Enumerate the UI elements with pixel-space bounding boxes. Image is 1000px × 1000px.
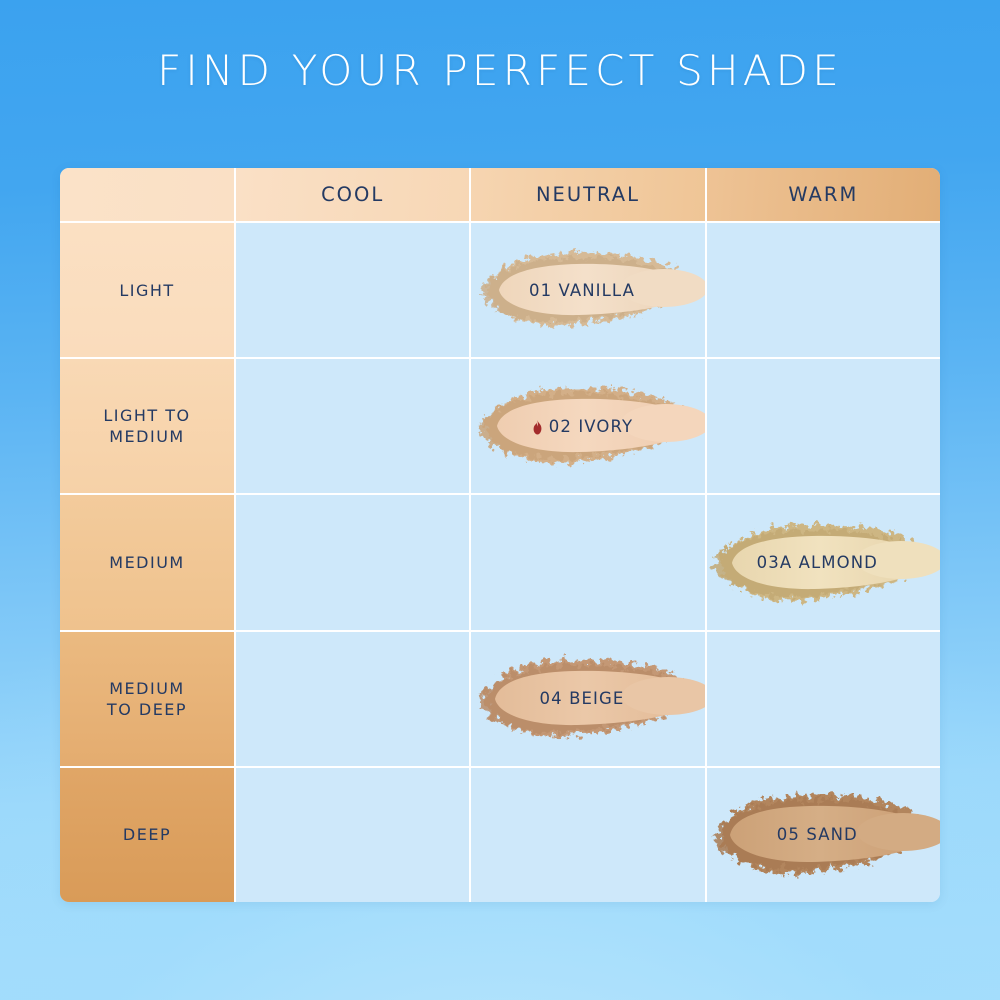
swatch-03a-almond[interactable]: 03A ALMOND <box>704 514 940 612</box>
swatch-label-05-sand: 05 SAND <box>777 825 858 844</box>
column-header-neutral: NEUTRAL <box>469 168 704 221</box>
row-header-light: LIGHT <box>60 223 234 357</box>
table-row: DEEP <box>60 766 940 902</box>
page-title: FIND YOUR PERFECT SHADE <box>0 46 1000 95</box>
row-header-deep: DEEP <box>60 768 234 902</box>
table-row: LIGHT <box>60 221 940 357</box>
table-header-row: COOL NEUTRAL WARM <box>60 168 940 221</box>
cell-light-warm[interactable] <box>705 223 940 357</box>
row-header-light-to-medium: LIGHT TO MEDIUM <box>60 359 234 493</box>
cell-light-to-medium-cool[interactable] <box>234 359 469 493</box>
cell-medium-to-deep-warm[interactable] <box>705 632 940 766</box>
cell-light-cool[interactable] <box>234 223 469 357</box>
swatch-01-vanilla[interactable]: 01 VANILLA <box>469 241 707 339</box>
column-header-cool: COOL <box>234 168 469 221</box>
shade-matrix-table: COOL NEUTRAL WARM LIGHT <box>60 168 940 902</box>
swatch-label-02-ivory: 02 IVORY <box>531 417 633 436</box>
swatch-label-04-beige: 04 BEIGE <box>540 689 625 708</box>
cell-light-neutral[interactable]: 01 VANILLA <box>469 223 704 357</box>
flame-icon <box>531 420 544 435</box>
row-header-light-label: LIGHT <box>119 280 174 301</box>
row-header-medium-to-deep: MEDIUM TO DEEP <box>60 632 234 766</box>
row-header-medium: MEDIUM <box>60 495 234 629</box>
row-header-light-to-medium-line1: LIGHT TO <box>103 406 190 425</box>
swatch-02-ivory[interactable]: 02 IVORY <box>469 377 707 475</box>
row-header-medium-to-deep-line1: MEDIUM <box>109 679 184 698</box>
column-header-neutral-label: NEUTRAL <box>536 183 640 206</box>
cell-medium-to-deep-cool[interactable] <box>234 632 469 766</box>
cell-medium-neutral[interactable] <box>469 495 704 629</box>
shade-finder-poster: FIND YOUR PERFECT SHADE COOL NEUTRAL WAR… <box>0 0 1000 1000</box>
swatch-label-01-vanilla: 01 VANILLA <box>529 281 635 300</box>
cell-deep-cool[interactable] <box>234 768 469 902</box>
table-row: MEDIUM TO DEEP <box>60 630 940 766</box>
column-header-warm-label: WARM <box>788 183 858 206</box>
row-header-deep-label: DEEP <box>123 824 171 845</box>
cell-light-to-medium-warm[interactable] <box>705 359 940 493</box>
cell-deep-neutral[interactable] <box>469 768 704 902</box>
swatch-label-02-ivory-text: 02 IVORY <box>549 417 633 436</box>
header-corner-cell <box>60 168 234 221</box>
swatch-04-beige[interactable]: 04 BEIGE <box>469 650 707 748</box>
swatch-label-03a-almond: 03A ALMOND <box>757 553 878 572</box>
row-header-medium-to-deep-line2: TO DEEP <box>107 700 187 719</box>
column-header-warm: WARM <box>705 168 940 221</box>
table-row: MEDIUM <box>60 493 940 629</box>
cell-light-to-medium-neutral[interactable]: 02 IVORY <box>469 359 704 493</box>
cell-medium-to-deep-neutral[interactable]: 04 BEIGE <box>469 632 704 766</box>
row-header-light-to-medium-line2: MEDIUM <box>109 427 184 446</box>
table-row: LIGHT TO MEDIUM <box>60 357 940 493</box>
cell-deep-warm[interactable]: 05 SAND <box>705 768 940 902</box>
swatch-05-sand[interactable]: 05 SAND <box>704 786 940 884</box>
cell-medium-warm[interactable]: 03A ALMOND <box>705 495 940 629</box>
cell-medium-cool[interactable] <box>234 495 469 629</box>
column-header-cool-label: COOL <box>321 183 384 206</box>
row-header-medium-label: MEDIUM <box>109 552 184 573</box>
table-body: LIGHT <box>60 221 940 902</box>
